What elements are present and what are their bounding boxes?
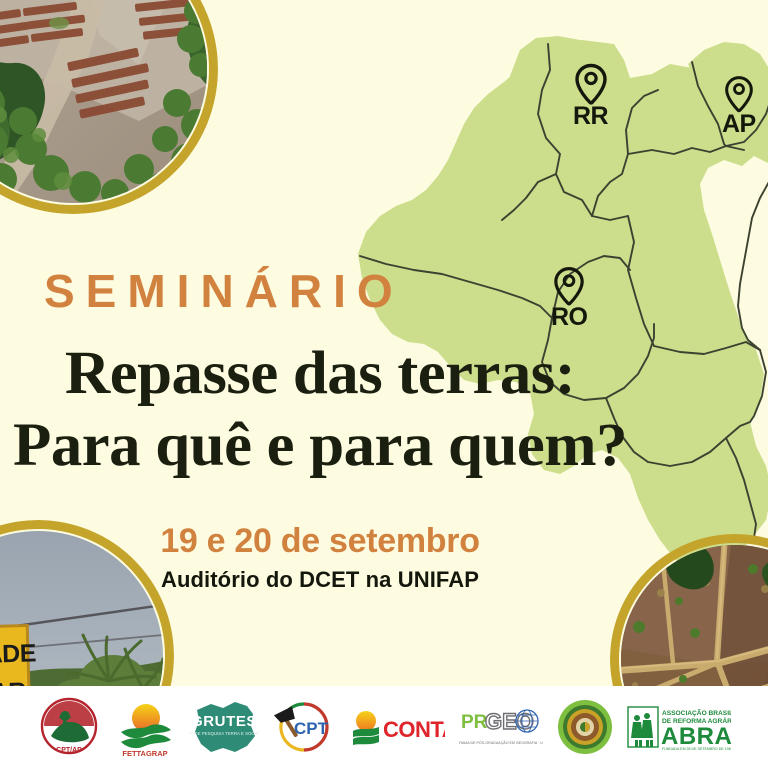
svg-text:ASSOCIAÇÃO BRASILEIRA: ASSOCIAÇÃO BRASILEIRA <box>662 708 731 717</box>
svg-text:ABRA: ABRA <box>661 723 731 750</box>
svg-text:GEO: GEO <box>485 709 534 734</box>
poster-text-block: SEMINÁRIO Repasse das terras: Para quê e… <box>0 268 640 593</box>
poster-kicker: SEMINÁRIO <box>44 268 640 316</box>
logo-fettagrap: FETTAGRAP <box>115 696 175 758</box>
map-pin-rr: RR <box>573 63 608 131</box>
map-pin-label: RR <box>573 102 608 131</box>
svg-text:PROPRIEDADE: PROPRIEDADE <box>0 639 36 672</box>
logo-abra: ASSOCIAÇÃO BRASILEIRA DE REFORMA AGRÁRIA… <box>627 696 731 758</box>
svg-text:FETTAGRAP: FETTAGRAP <box>122 749 167 758</box>
photo-image <box>0 0 207 203</box>
logo-grutes: GRUTES GRUPO DE PESQUISA TERRA E SOCIEDA… <box>189 696 259 758</box>
logo-prgeo: PR GEO PROGRAMA DE PÓS-GRADUAÇÃO EM GEOG… <box>459 696 543 758</box>
seminar-poster: RR AP RO <box>0 0 768 768</box>
svg-text:CONTAG: CONTAG <box>383 717 445 742</box>
map-pin-ap: AP <box>722 75 756 139</box>
svg-text:GRUTES: GRUTES <box>191 713 257 730</box>
svg-text:FUNDADA EM 28 DE SETEMBRO DE 1: FUNDADA EM 28 DE SETEMBRO DE 1967 <box>662 747 731 751</box>
location-pin-icon <box>574 63 608 105</box>
logo-cpt: CPT <box>273 696 335 758</box>
poster-title-line-1: Repasse das terras: <box>0 342 650 405</box>
svg-text:GRUPO DE PESQUISA TERRA E SOCI: GRUPO DE PESQUISA TERRA E SOCIEDADE <box>189 731 259 736</box>
svg-text:CPT/AP: CPT/AP <box>56 747 82 754</box>
sponsor-logo-bar: CPT/AP FETTAGRAP <box>0 686 768 768</box>
logo-circular-seal <box>557 696 613 758</box>
map-pin-label: AP <box>722 110 756 139</box>
location-pin-icon <box>724 75 754 113</box>
logo-cpt-ap: CPT/AP <box>37 696 101 758</box>
poster-title-line-2: Para quê e para quem? <box>0 414 650 477</box>
svg-text:CPT: CPT <box>294 719 329 738</box>
svg-text:PROGRAMA DE PÓS-GRADUAÇÃO EM G: PROGRAMA DE PÓS-GRADUAÇÃO EM GEOGRAFIA ·… <box>459 740 543 745</box>
svg-text:PR: PR <box>461 712 488 733</box>
aerial-logging-yard-photo <box>0 0 218 214</box>
logo-contag: CONTAG <box>349 696 445 758</box>
